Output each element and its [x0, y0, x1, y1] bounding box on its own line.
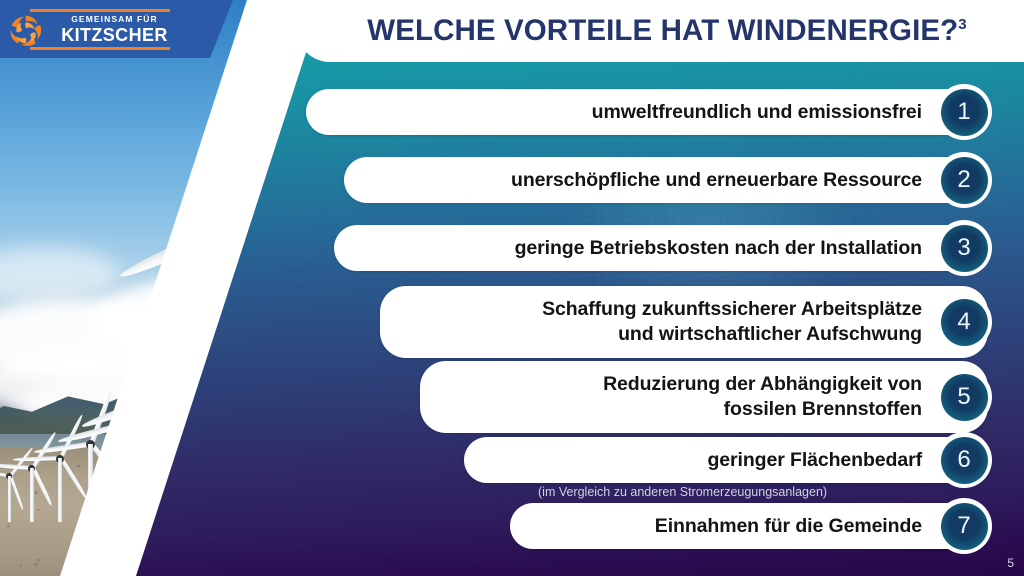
benefit-number-badge: 5	[936, 369, 992, 425]
benefit-number: 2	[941, 157, 988, 204]
page-title-text: WELCHE VORTEILE HAT WINDENERGIE?	[367, 14, 958, 47]
logo-badge: GEMEINSAM FÜR KITZSCHER	[0, 0, 233, 58]
benefit-number: 5	[941, 374, 988, 421]
benefit-label: umweltfreundlich und emissionsfrei	[592, 100, 922, 125]
benefit-number-badge: 3	[936, 220, 992, 276]
benefit-item-1[interactable]: umweltfreundlich und emissionsfrei 1	[306, 89, 988, 135]
benefit-label: unerschöpfliche und erneuerbare Ressourc…	[511, 168, 922, 193]
benefit-6-subnote: (im Vergleich zu anderen Stromerzeugungs…	[538, 485, 827, 499]
benefit-item-7[interactable]: Einnahmen für die Gemeinde 7	[510, 503, 988, 549]
logo-wordmark: GEMEINSAM FÜR KITZSCHER	[52, 13, 177, 46]
benefit-label: geringe Betriebskosten nach der Installa…	[515, 236, 922, 261]
benefit-number-badge: 1	[936, 84, 992, 140]
benefit-number-badge: 6	[936, 432, 992, 488]
slide-page-number: 5	[1007, 556, 1014, 570]
page-title: WELCHE VORTEILE HAT WINDENERGIE?3	[353, 14, 966, 48]
logo-name: KITZSCHER	[52, 25, 177, 46]
logo-subtitle: GEMEINSAM FÜR	[52, 13, 177, 25]
benefit-label: geringer Flächenbedarf	[707, 448, 922, 473]
logo-rule-top	[30, 9, 170, 12]
title-footnote-marker: 3	[958, 16, 966, 33]
benefit-number: 4	[941, 299, 988, 346]
title-bar: WELCHE VORTEILE HAT WINDENERGIE?3	[296, 0, 1024, 62]
benefit-number: 1	[941, 89, 988, 136]
benefit-label: Schaffung zukunftssicherer Arbeitsplätze…	[542, 297, 922, 347]
logo-rule-bottom	[30, 47, 170, 50]
benefit-label: Einnahmen für die Gemeinde	[655, 514, 922, 539]
benefit-item-3[interactable]: geringe Betriebskosten nach der Installa…	[334, 225, 988, 271]
benefit-number-badge: 4	[936, 294, 992, 350]
benefit-number: 7	[941, 503, 988, 550]
benefit-number-badge: 2	[936, 152, 992, 208]
benefit-item-2[interactable]: unerschöpfliche und erneuerbare Ressourc…	[344, 157, 988, 203]
benefit-number: 3	[941, 225, 988, 272]
slide-stage: GEMEINSAM FÜR KITZSCHER WELCHE VORTEILE …	[0, 0, 1024, 576]
benefit-number-badge: 7	[936, 498, 992, 554]
benefit-item-4[interactable]: Schaffung zukunftssicherer Arbeitsplätze…	[380, 286, 988, 358]
benefit-label: Reduzierung der Abhängigkeit von fossile…	[603, 372, 922, 422]
benefit-item-5[interactable]: Reduzierung der Abhängigkeit von fossile…	[420, 361, 988, 433]
pinwheel-icon	[7, 12, 45, 48]
benefit-number: 6	[941, 437, 988, 484]
benefit-item-6[interactable]: geringer Flächenbedarf 6	[464, 437, 988, 483]
